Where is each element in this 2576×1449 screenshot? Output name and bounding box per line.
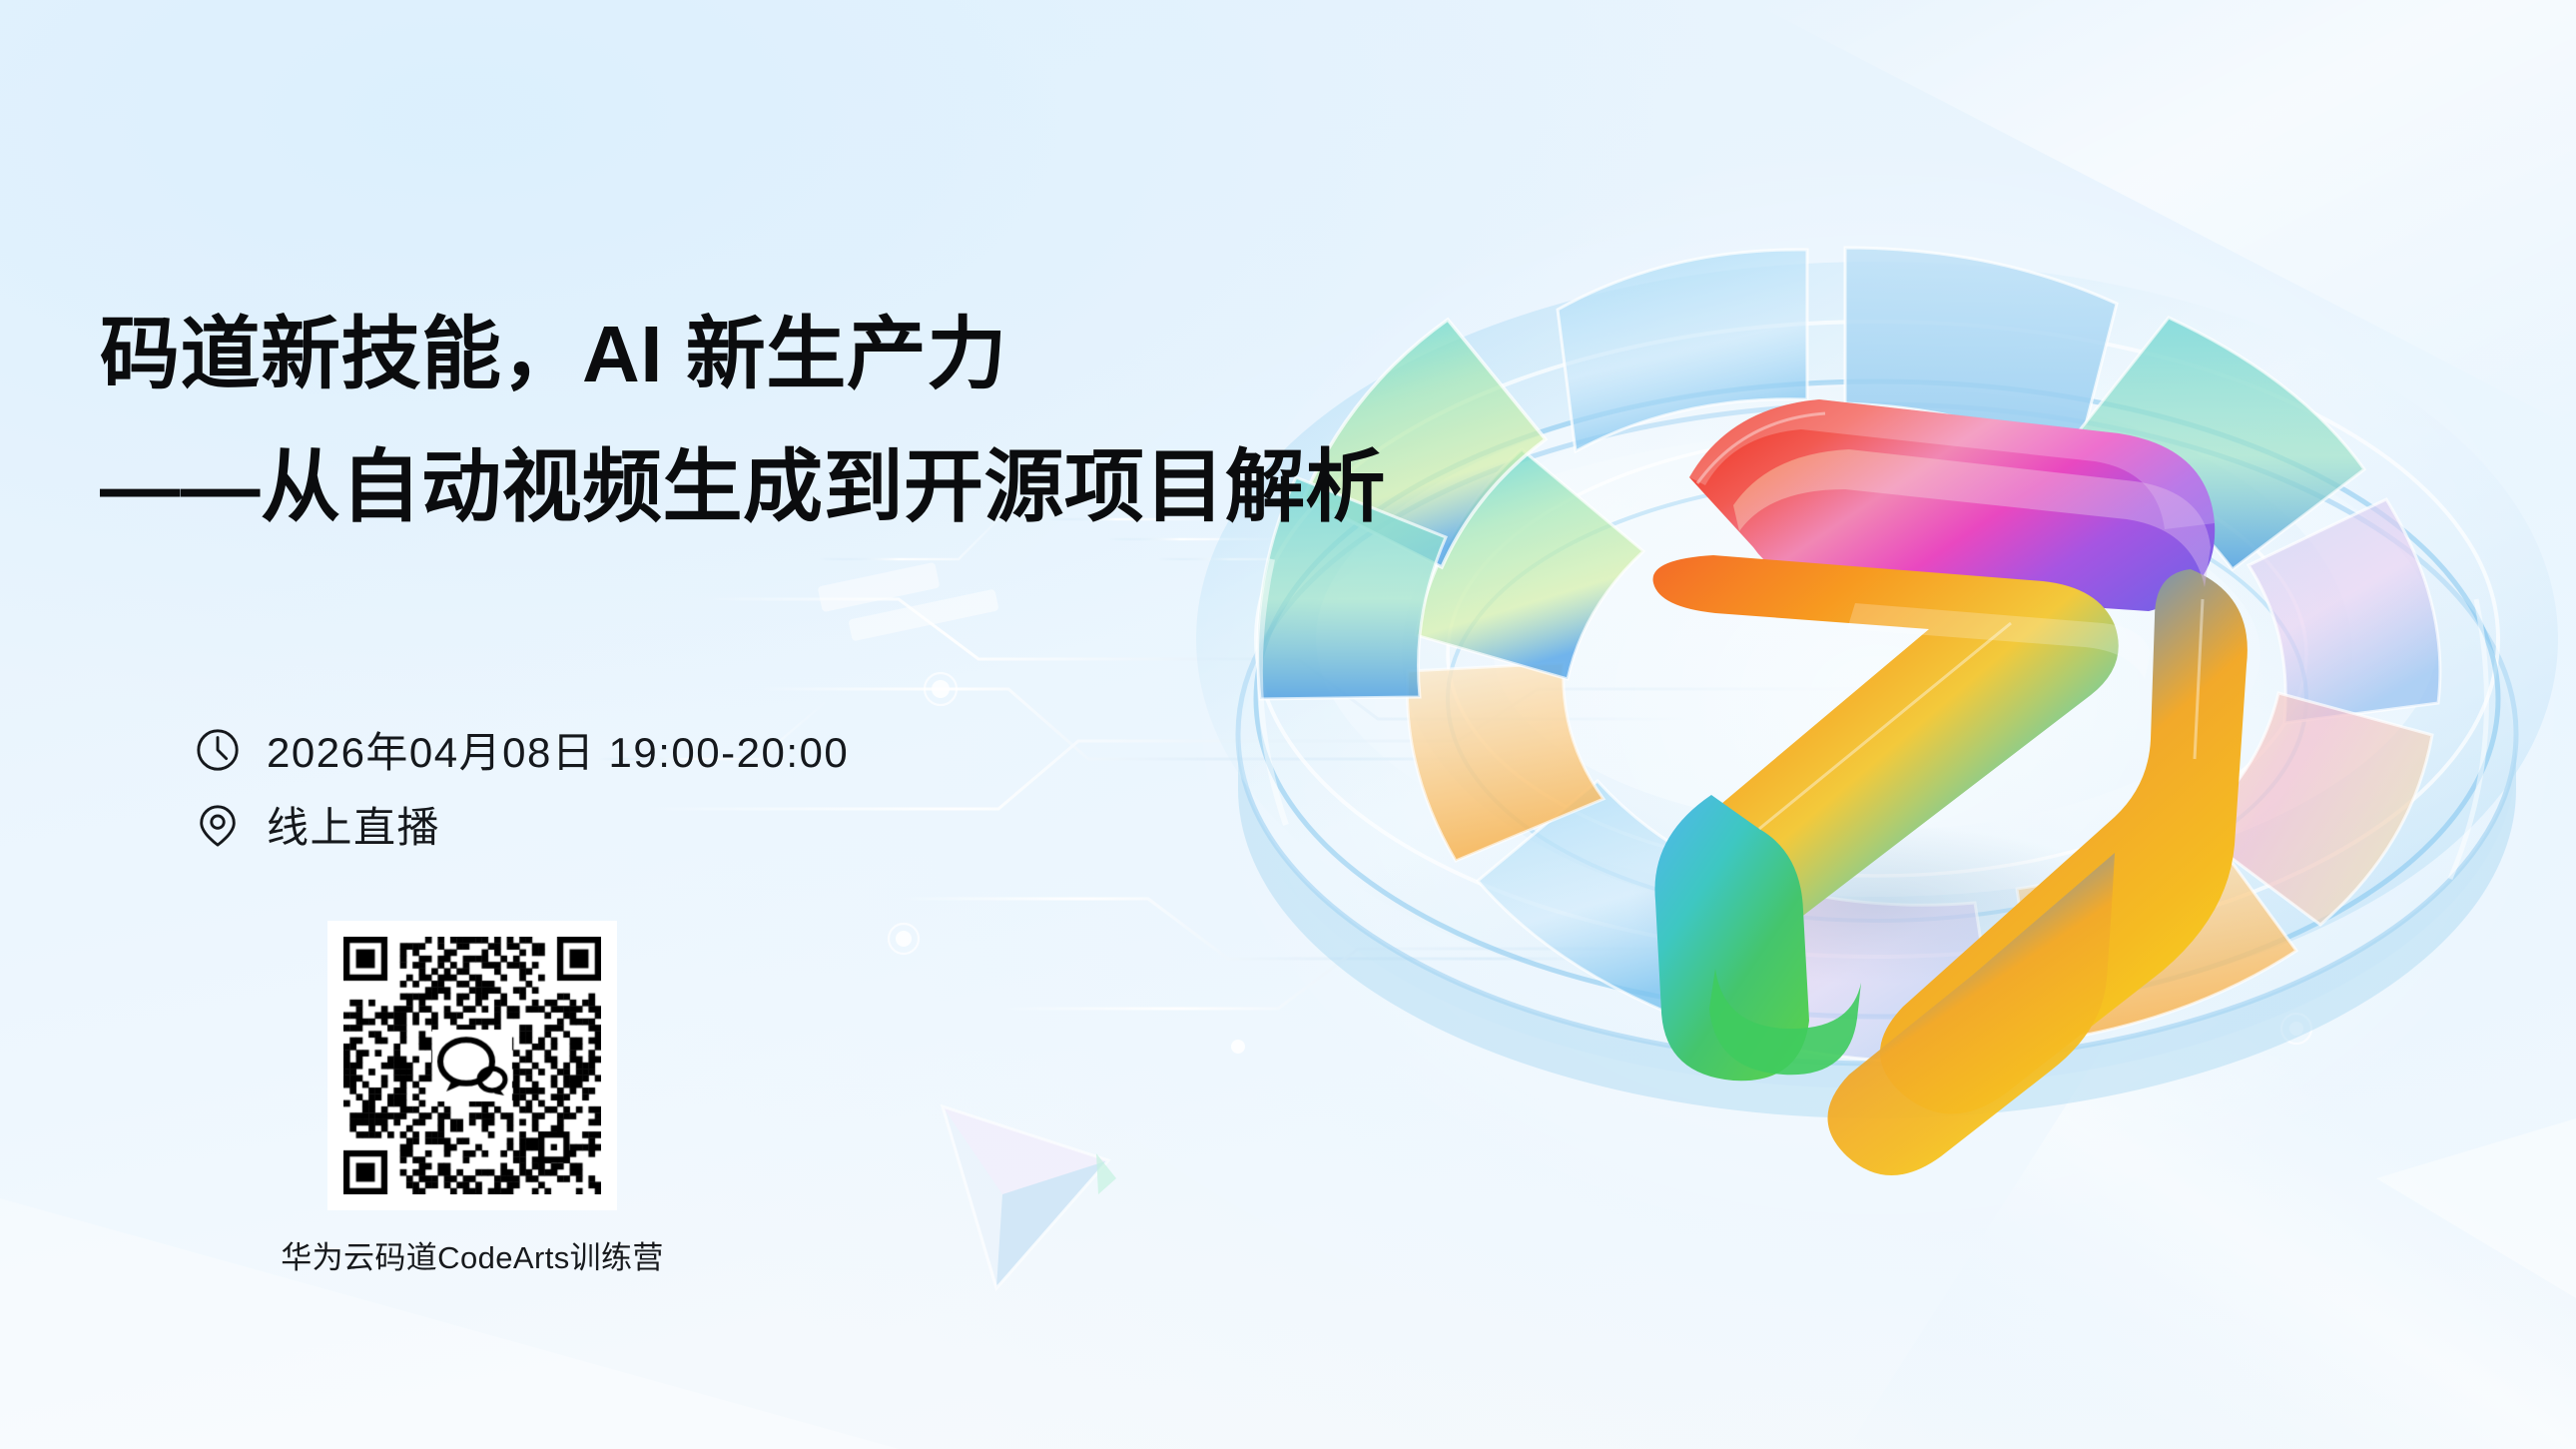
promo-banner: 码道新技能，AI 新生产力 ——从自动视频生成到开源项目解析 2026年04月0… <box>0 0 2576 1449</box>
event-datetime-row: 2026年04月08日 19:00-20:00 <box>195 719 849 780</box>
qr-caption: 华为云码道CodeArts训练营 <box>243 1232 702 1277</box>
page-title-line-1: 码道新技能，AI 新生产力 <box>100 310 1007 399</box>
glass-petals <box>1258 248 2440 1062</box>
rainbow-ribbon <box>1653 399 2248 1175</box>
glass-disc-base <box>1238 404 2516 1118</box>
glass-ring-inner <box>1448 432 2306 921</box>
glass-ring-outer <box>1256 322 2498 1017</box>
event-location-text: 线上直播 <box>267 794 440 855</box>
qr-code-image[interactable] <box>343 937 601 1194</box>
event-location-row: 线上直播 <box>195 794 440 855</box>
event-datetime-text: 2026年04月08日 19:00-20:00 <box>267 719 849 780</box>
page-title-line-2: ——从自动视频生成到开源项目解析 <box>100 442 1386 532</box>
content-column: 码道新技能，AI 新生产力 ——从自动视频生成到开源项目解析 2026年04月0… <box>100 0 1278 1449</box>
qr-code-card[interactable] <box>327 921 617 1210</box>
map-pin-icon <box>195 802 241 848</box>
clock-icon <box>195 727 241 773</box>
ring-reflection <box>1260 559 2487 879</box>
qr-block: 华为云码道CodeArts训练营 <box>327 921 617 1210</box>
